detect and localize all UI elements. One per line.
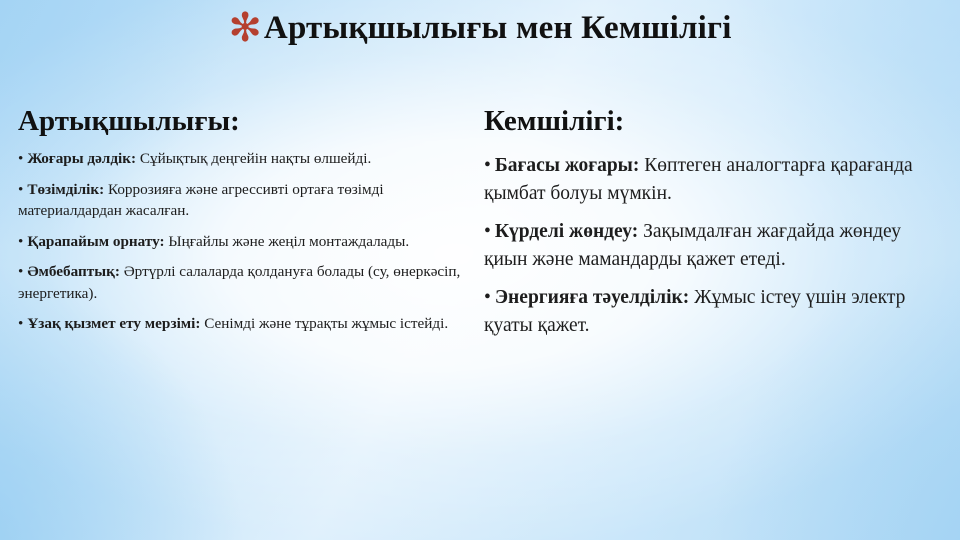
bullet-dot-icon: • (18, 150, 23, 167)
disadvantages-list: •Бағасы жоғары: Көптеген аналогтарға қар… (484, 152, 940, 339)
advantages-heading: Артықшылығы: (18, 104, 470, 138)
list-item: •Энергияға тәуелділік: Жұмыс істеу үшін … (484, 284, 940, 339)
advantages-list: •Жоғары дәлдік: Сұйықтық деңгейін нақты … (18, 148, 470, 335)
list-item-lead: Күрделі жөндеу: (495, 221, 638, 242)
list-item-lead: Бағасы жоғары: (495, 155, 640, 176)
list-item: •Ұзақ қызмет ету мерзімі: Сенімді және т… (18, 313, 470, 335)
list-item-lead: Әмбебаптық: (27, 263, 120, 280)
list-item-text: Ыңғайлы және жеңіл монтаждалады. (168, 233, 409, 250)
list-item-lead: Энергияға тәуелділік: (495, 287, 689, 308)
disadvantages-column: Кемшілігі: •Бағасы жоғары: Көптеген анал… (484, 104, 940, 350)
advantages-column: Артықшылығы: •Жоғары дәлдік: Сұйықтық де… (18, 104, 470, 344)
list-item-lead: Жоғары дәлдік: (27, 150, 136, 167)
slide-title-row: ✻ Артықшылығы мен Кемшілігі (0, 6, 960, 50)
page-title: Артықшылығы мен Кемшілігі (264, 6, 732, 50)
disadvantages-heading: Кемшілігі: (484, 104, 940, 138)
bullet-dot-icon: • (18, 181, 23, 198)
list-item-text: Сенімді және тұрақты жұмыс істейді. (204, 315, 448, 332)
list-item: •Әмбебаптық: Әртүрлі салаларда қолдануға… (18, 261, 470, 304)
list-item: •Төзімділік: Коррозияға және агрессивті … (18, 179, 470, 222)
list-item: •Күрделі жөндеу: Зақымдалған жағдайда жө… (484, 218, 940, 273)
bullet-dot-icon: • (18, 315, 23, 332)
bullet-dot-icon: • (484, 221, 491, 242)
list-item: •Жоғары дәлдік: Сұйықтық деңгейін нақты … (18, 148, 470, 170)
list-item-lead: Ұзақ қызмет ету мерзімі: (27, 315, 200, 332)
list-item: •Қарапайым орнату: Ыңғайлы және жеңіл мо… (18, 231, 470, 253)
slide-canvas: ✻ Артықшылығы мен Кемшілігі Артықшылығы:… (0, 0, 960, 540)
asterisk-icon: ✻ (228, 8, 262, 48)
list-item-lead: Қарапайым орнату: (27, 233, 164, 250)
bullet-dot-icon: • (18, 263, 23, 280)
bullet-dot-icon: • (484, 287, 491, 308)
bullet-dot-icon: • (484, 155, 491, 176)
list-item-text: Сұйықтық деңгейін нақты өлшейді. (140, 150, 371, 167)
list-item: •Бағасы жоғары: Көптеген аналогтарға қар… (484, 152, 940, 207)
list-item-lead: Төзімділік: (27, 181, 104, 198)
bullet-dot-icon: • (18, 233, 23, 250)
